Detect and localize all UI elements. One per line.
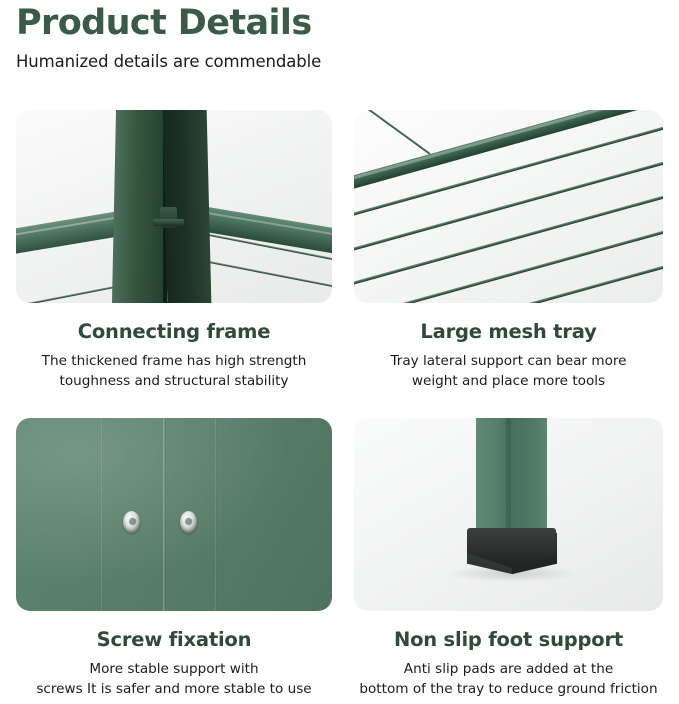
feature-card-non-slip-foot-support: Non slip foot support Anti slip pads are… [348, 418, 679, 704]
feature-caption: Screw fixation More stable support with … [16, 611, 332, 699]
page-title: Product Details [16, 0, 663, 44]
feature-caption: Non slip foot support Anti slip pads are… [354, 611, 663, 699]
feature-description: Anti slip pads are added at the bottom o… [354, 653, 663, 699]
product-details-page: Product Details Humanized details are co… [0, 0, 679, 704]
feature-card-large-mesh-tray: Large mesh tray Tray lateral support can… [348, 110, 679, 418]
feature-caption: Connecting frame The thickened frame has… [16, 303, 332, 391]
feature-title: Connecting frame [16, 319, 332, 345]
mesh-frame-rail-shape [354, 110, 663, 200]
panel-sheen-shape [16, 418, 332, 611]
feature-title: Non slip foot support [354, 627, 663, 653]
feature-caption: Large mesh tray Tray lateral support can… [354, 303, 663, 391]
feature-card-connecting-frame: Connecting frame The thickened frame has… [0, 110, 348, 418]
screw-fixation-photo [16, 418, 332, 611]
mesh-cross-rod-shape [354, 110, 431, 155]
feature-description: More stable support with screws It is sa… [16, 653, 332, 699]
feature-title: Screw fixation [16, 627, 332, 653]
feature-grid: Connecting frame The thickened frame has… [0, 110, 679, 704]
feature-description: Tray lateral support can bear more weigh… [354, 345, 663, 391]
feature-card-screw-fixation: Screw fixation More stable support with … [0, 418, 348, 704]
page-header: Product Details Humanized details are co… [0, 0, 679, 74]
page-subtitle: Humanized details are commendable [16, 44, 663, 74]
feature-title: Large mesh tray [354, 319, 663, 345]
connecting-frame-photo [16, 110, 332, 303]
feature-description: The thickened frame has high strength to… [16, 345, 332, 391]
mesh-rod-shape [354, 214, 663, 303]
large-mesh-tray-photo [354, 110, 663, 303]
screw-head-shape [180, 511, 197, 533]
frame-bolt-shape [160, 207, 177, 228]
non-slip-foot-support-photo [354, 418, 663, 611]
